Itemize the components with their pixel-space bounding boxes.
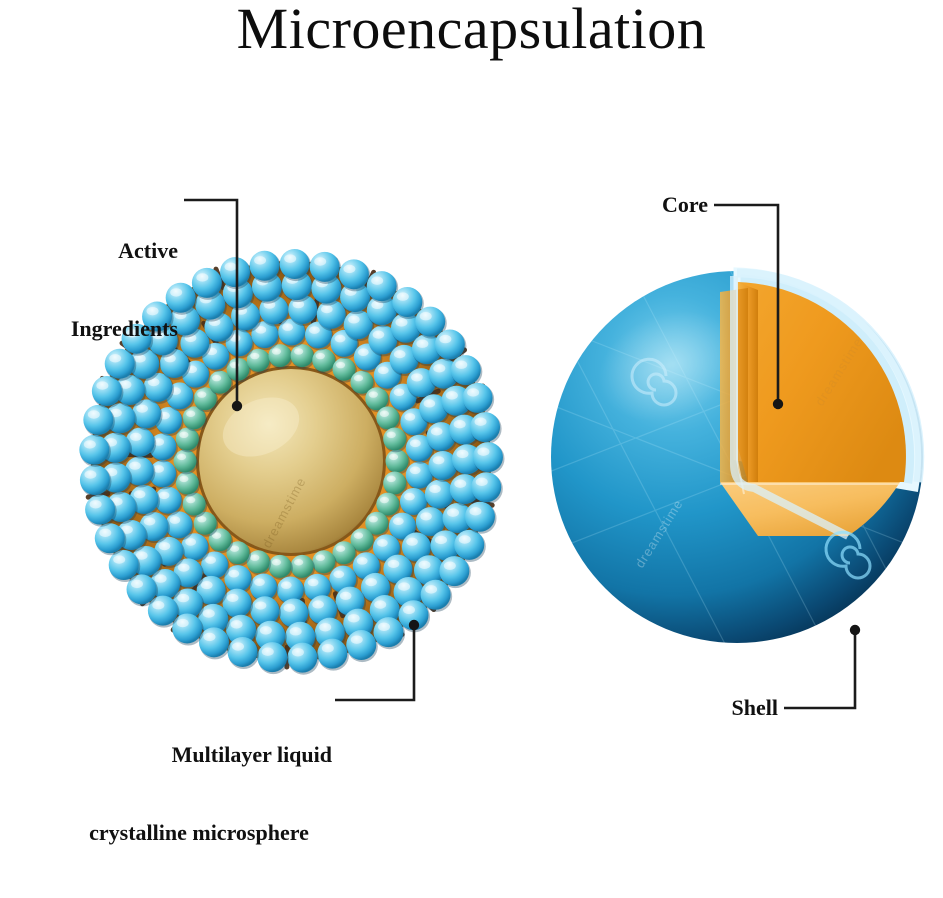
core-dot bbox=[773, 399, 783, 409]
label-multilayer-microsphere: Multilayer liquid crystalline microspher… bbox=[66, 690, 332, 898]
label-shell: Shell bbox=[640, 695, 778, 721]
label-active-ingredients: Active Ingredients bbox=[0, 186, 178, 394]
label-core: Core bbox=[560, 192, 708, 218]
shell-dot bbox=[850, 625, 860, 635]
active-ingredients-leader bbox=[184, 200, 237, 406]
diagram-canvas: Microencapsulation bbox=[0, 0, 943, 867]
multilayer-dot bbox=[409, 620, 419, 630]
label-active-ingredients-line2: Ingredients bbox=[0, 316, 178, 342]
active-ingredients-dot bbox=[232, 401, 242, 411]
multilayer-leader bbox=[335, 625, 414, 700]
label-active-ingredients-line1: Active bbox=[0, 238, 178, 264]
shell-leader bbox=[784, 630, 855, 708]
label-multilayer-line1: Multilayer liquid bbox=[66, 742, 332, 768]
core-leader bbox=[714, 205, 778, 404]
label-multilayer-line2: crystalline microsphere bbox=[66, 820, 332, 846]
